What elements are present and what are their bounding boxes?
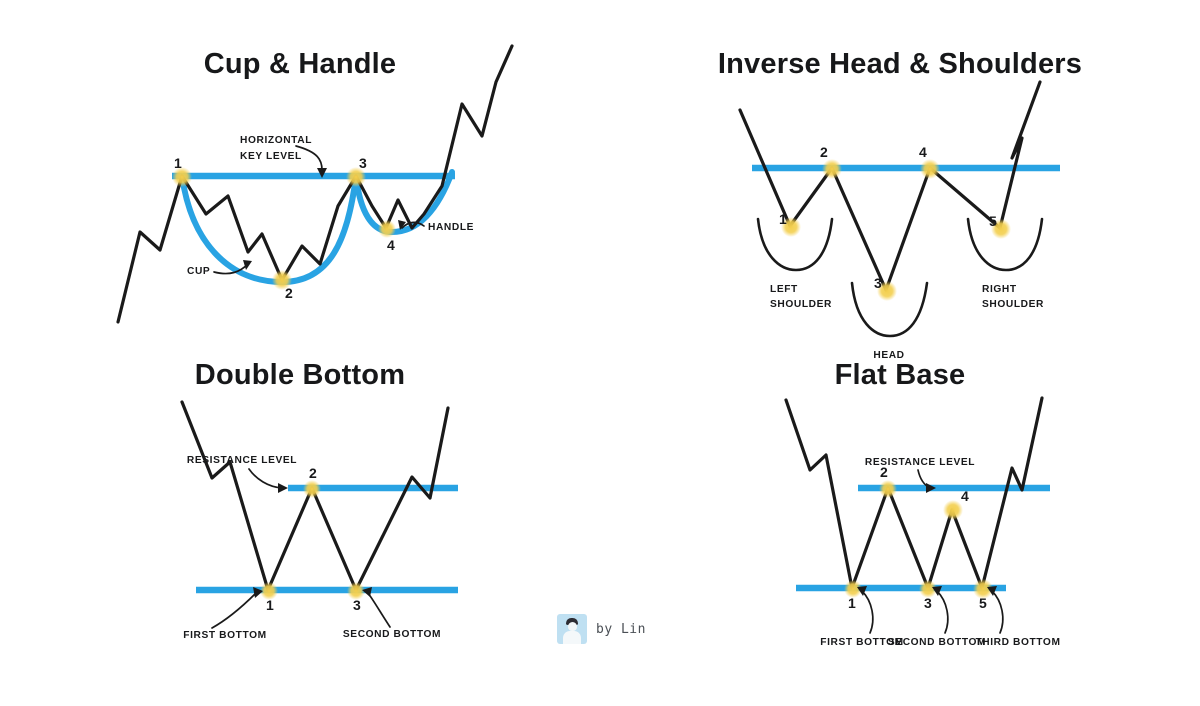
point-label-2: 2 bbox=[820, 144, 828, 160]
price-line-flat-base bbox=[786, 398, 1042, 588]
point-label-1: 1 bbox=[266, 597, 274, 613]
point-label-2: 2 bbox=[285, 285, 293, 301]
second-bottom-leader bbox=[937, 591, 948, 633]
point-label-1: 1 bbox=[174, 155, 182, 171]
annotation-left-shoulder-line1: LEFT bbox=[770, 284, 798, 295]
chart-panel-inverse-head-shoulders: Inverse Head & Shoulders 1 2 3 4 5 LEFT bbox=[600, 0, 1200, 353]
third-bottom-leader bbox=[992, 591, 1003, 633]
point-label-5: 5 bbox=[979, 595, 987, 611]
marker-point-2 bbox=[822, 159, 842, 179]
point-label-2: 2 bbox=[309, 465, 317, 481]
avatar-body bbox=[563, 631, 581, 644]
first-bottom-leader bbox=[212, 593, 256, 628]
author-watermark: by Lin bbox=[557, 614, 646, 644]
annotation-second-bottom: SECOND BOTTOM bbox=[888, 637, 986, 648]
annotation-third-bottom: THIRD BOTTOM bbox=[975, 637, 1060, 648]
chart-panel-double-bottom: Double Bottom 1 2 3 RESISTANCE LEVEL FIR… bbox=[0, 353, 600, 706]
resistance-level-leader bbox=[249, 469, 282, 488]
resistance-level-arrowhead bbox=[926, 483, 936, 493]
chart-svg-cup-handle: 1 2 3 4 HORIZONTAL KEY LEVEL CUP HANDLE bbox=[0, 0, 600, 353]
point-label-4: 4 bbox=[919, 144, 927, 160]
point-label-1: 1 bbox=[848, 595, 856, 611]
annotation-right-shoulder-line1: RIGHT bbox=[982, 284, 1017, 295]
chart-panel-cup-handle: Cup & Handle 1 2 bbox=[0, 0, 600, 353]
price-line-inverse-head-shoulders bbox=[740, 82, 1040, 290]
point-label-3: 3 bbox=[874, 275, 882, 291]
annotation-handle: HANDLE bbox=[428, 222, 474, 233]
first-bottom-leader bbox=[862, 591, 873, 633]
annotation-resistance-level: RESISTANCE LEVEL bbox=[187, 455, 297, 466]
annotation-horizontal-key-level-line1: HORIZONTAL bbox=[240, 135, 312, 146]
cup-arrowhead bbox=[243, 260, 252, 270]
point-label-4: 4 bbox=[387, 237, 395, 253]
point-label-3: 3 bbox=[924, 595, 932, 611]
chart-svg-double-bottom: 1 2 3 RESISTANCE LEVEL FIRST BOTTOM SECO… bbox=[0, 353, 600, 706]
chart-svg-flat-base: 1 2 3 4 5 RESISTANCE LEVEL FIRST BOTTOM … bbox=[600, 353, 1200, 706]
infographic-canvas: Cup & Handle 1 2 bbox=[0, 0, 1200, 706]
annotation-cup: CUP bbox=[187, 266, 210, 277]
marker-point-2 bbox=[879, 480, 897, 498]
point-label-4: 4 bbox=[961, 488, 969, 504]
point-label-3: 3 bbox=[353, 597, 361, 613]
point-label-5: 5 bbox=[989, 213, 997, 229]
point-label-1: 1 bbox=[779, 211, 787, 227]
author-avatar-icon bbox=[557, 614, 587, 644]
author-credit-text: by Lin bbox=[596, 622, 646, 637]
chart-panel-flat-base: Flat Base 1 2 3 4 5 RESISTANCE LEVEL bbox=[600, 353, 1200, 706]
second-bottom-leader bbox=[368, 593, 390, 627]
annotation-resistance-level: RESISTANCE LEVEL bbox=[865, 457, 975, 468]
resistance-level-arrowhead bbox=[278, 483, 288, 493]
annotation-horizontal-key-level-line2: KEY LEVEL bbox=[240, 151, 302, 162]
annotation-left-shoulder-line2: SHOULDER bbox=[770, 299, 832, 310]
marker-point-2 bbox=[303, 480, 321, 498]
point-label-3: 3 bbox=[359, 155, 367, 171]
annotation-right-shoulder-line2: SHOULDER bbox=[982, 299, 1044, 310]
annotation-first-bottom: FIRST BOTTOM bbox=[183, 630, 266, 641]
avatar-face bbox=[568, 622, 577, 631]
marker-point-4 bbox=[378, 220, 396, 238]
marker-point-4 bbox=[920, 159, 940, 179]
annotation-second-bottom: SECOND BOTTOM bbox=[343, 629, 441, 640]
chart-svg-inverse-head-shoulders: 1 2 3 4 5 LEFT SHOULDER HEAD RIGHT SHOUL… bbox=[600, 0, 1200, 353]
